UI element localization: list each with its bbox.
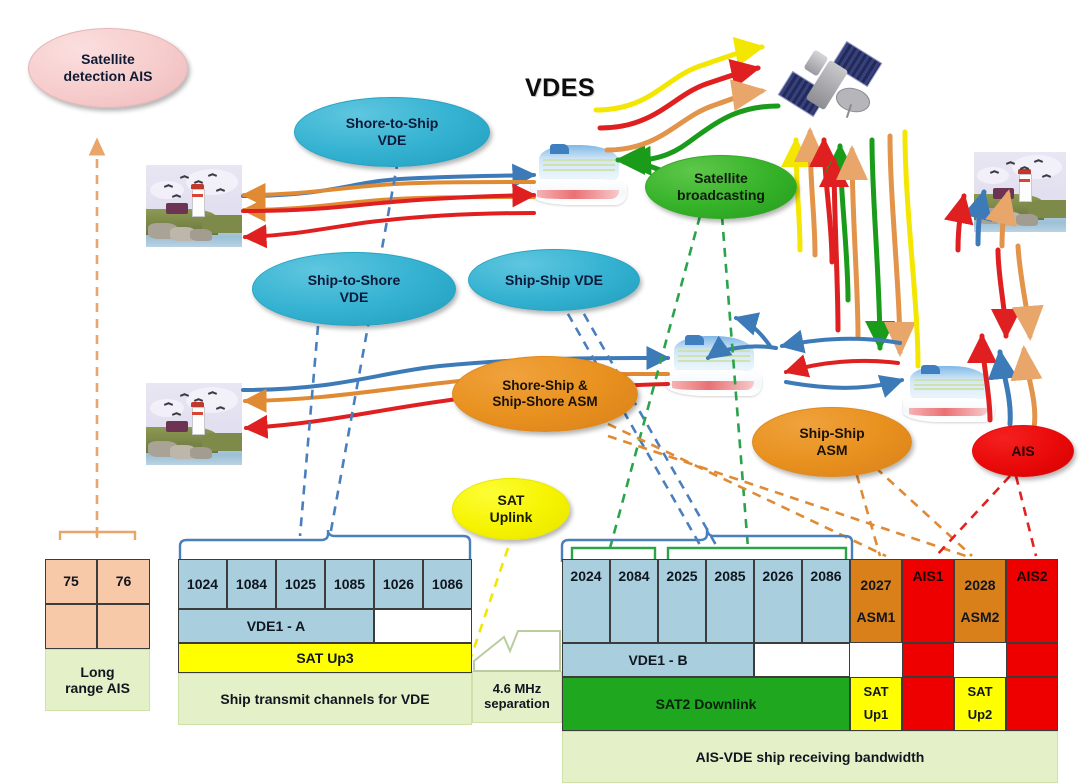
node-label-line: SAT (490, 492, 533, 509)
node-satellite-detection-ais[interactable]: Satellite detection AIS (28, 28, 188, 108)
channel-cell-blank (97, 604, 150, 649)
ais-channel-name: AIS1 (912, 568, 943, 584)
ship-icon (666, 334, 762, 396)
node-label-line: Satellite (677, 170, 765, 187)
node-label-line: Ship-Shore ASM (492, 394, 597, 410)
channel-cell-blank (45, 604, 97, 649)
channel-cell[interactable]: 1086 (423, 559, 472, 609)
node-ship-to-shore-vde[interactable]: Ship-to-Shore VDE (252, 252, 456, 326)
separation-label: 4.6 MHz separation (472, 671, 562, 723)
node-label-line: Shore-to-Ship (346, 115, 439, 132)
ais2-lower (1006, 643, 1058, 677)
sat-up-line: Up1 (864, 708, 889, 723)
node-label-line: Satellite (64, 51, 153, 68)
band-label-vde1b: VDE1 - B (562, 643, 754, 677)
node-label-line: broadcasting (677, 187, 765, 204)
table-row: SAT2 Downlink (562, 677, 850, 731)
channel-cell[interactable]: 2025 (658, 559, 706, 643)
ais-channel-name: AIS2 (1016, 568, 1047, 584)
node-shore-ship-and-ship-shore-asm[interactable]: Shore-Ship & Ship-Shore ASM (452, 356, 638, 432)
vde-receive-footer: AIS-VDE ship receiving bandwidth (562, 731, 1058, 783)
channel-cell[interactable]: 2026 (754, 559, 802, 643)
band-label-vde1a: VDE1 - A (178, 609, 374, 643)
node-shore-to-ship-vde[interactable]: Shore-to-Ship VDE (294, 97, 490, 167)
table-row: Long range AIS (45, 649, 150, 711)
table-row: 1024 1084 1025 1085 1026 1086 (178, 559, 472, 609)
vde-transmit-footer: Ship transmit channels for VDE (178, 673, 472, 725)
asm-channel-number: 2027 (860, 577, 891, 593)
ais1-lower (902, 643, 954, 677)
asm-channel-number: 2028 (964, 577, 995, 593)
vdes-diagram: Satellite detection AIS Shore-to-Ship VD… (0, 0, 1080, 731)
channel-cell[interactable]: 1026 (374, 559, 423, 609)
table-row: 2024 2084 2025 2085 2026 2086 2027 ASM1 … (562, 559, 1058, 643)
lighthouse-icon (974, 152, 1066, 232)
separation-line: 4.6 MHz (493, 682, 541, 697)
sat-up-line: SAT (863, 685, 888, 700)
bandplan-separation: 4.6 MHz separation (472, 671, 562, 723)
node-label-line: AIS (1011, 443, 1034, 460)
separation-funnel (472, 627, 562, 673)
separation-line: separation (484, 697, 550, 712)
band-gap (754, 643, 850, 677)
node-label-line: Ship-Ship (799, 425, 864, 442)
channel-cell[interactable]: 1084 (227, 559, 276, 609)
asm-spacer (954, 643, 1006, 677)
sat-up-line: Up2 (968, 708, 993, 723)
asm-column[interactable]: 2027 ASM1 (850, 559, 902, 643)
page-title: VDES (525, 74, 595, 103)
sat-up2-block: SAT Up2 (954, 677, 1006, 731)
bandplan-vde-transmit: 1024 1084 1025 1085 1026 1086 VDE1 - A S… (178, 559, 472, 725)
asm-column[interactable]: 2028 ASM2 (954, 559, 1006, 643)
channel-cell[interactable]: 2085 (706, 559, 754, 643)
node-label-line: Ship-to-Shore (308, 272, 401, 289)
bandplan-vde-receive: 2024 2084 2025 2085 2026 2086 2027 ASM1 … (562, 559, 1058, 783)
bandplan-legacy-ais: 75 76 Long range AIS (45, 559, 150, 711)
sat-up1-block: SAT Up1 (850, 677, 902, 731)
lighthouse-icon (146, 165, 242, 247)
node-label-line: ASM (799, 442, 864, 459)
node-label-line: Shore-Ship & (492, 378, 597, 394)
ais1-lower (902, 677, 954, 731)
node-label-line: Ship-Ship VDE (505, 272, 603, 289)
ais-column[interactable]: AIS1 (902, 559, 954, 643)
table-row: SAT Up3 (178, 643, 472, 673)
channel-cell[interactable]: 75 (45, 559, 97, 604)
node-sat-uplink[interactable]: SAT Uplink (452, 478, 570, 540)
band-gap (374, 609, 472, 643)
table-row: 75 76 (45, 559, 150, 604)
node-label-line: detection AIS (64, 68, 153, 85)
ais2-lower (1006, 677, 1058, 731)
channel-cell[interactable]: 2024 (562, 559, 610, 643)
channel-cell[interactable]: 1025 (276, 559, 325, 609)
ship-icon (531, 143, 627, 205)
node-label-line: VDE (308, 289, 401, 306)
footer-line: range AIS (65, 680, 130, 696)
node-ais[interactable]: AIS (972, 425, 1074, 477)
table-row: Ship transmit channels for VDE (178, 673, 472, 725)
channel-cell[interactable]: 2084 (610, 559, 658, 643)
lighthouse-icon (146, 383, 242, 465)
node-ship-ship-asm[interactable]: Ship-Ship ASM (752, 407, 912, 477)
table-row: VDE1 - A (178, 609, 472, 643)
channel-cell[interactable]: 1024 (178, 559, 227, 609)
sat-up3-band: SAT Up3 (178, 643, 472, 673)
sat2-downlink-band: SAT2 Downlink (562, 677, 850, 731)
channel-cell[interactable]: 2086 (802, 559, 850, 643)
ais-column[interactable]: AIS2 (1006, 559, 1058, 643)
extra-lower-blocks (850, 643, 1058, 677)
table-row: VDE1 - B (562, 643, 850, 677)
channel-cell[interactable]: 76 (97, 559, 150, 604)
table-row: AIS-VDE ship receiving bandwidth (562, 731, 1058, 783)
footer-line: Long (80, 664, 114, 680)
node-label-line: VDE (346, 132, 439, 149)
asm-spacer (850, 643, 902, 677)
sat-up-line: SAT (967, 685, 992, 700)
node-satellite-broadcasting[interactable]: Satellite broadcasting (645, 155, 797, 219)
asm-channel-name: ASM2 (961, 609, 1000, 625)
extra-sat-blocks: SAT Up1 SAT Up2 (850, 677, 1058, 731)
channel-cell[interactable]: 1085 (325, 559, 374, 609)
asm-channel-name: ASM1 (857, 609, 896, 625)
table-row (45, 604, 150, 649)
node-ship-ship-vde[interactable]: Ship-Ship VDE (468, 249, 640, 311)
node-label-line: Uplink (490, 509, 533, 526)
legacy-ais-footer: Long range AIS (45, 649, 150, 711)
satellite-icon (778, 36, 884, 128)
ship-icon (903, 364, 995, 422)
